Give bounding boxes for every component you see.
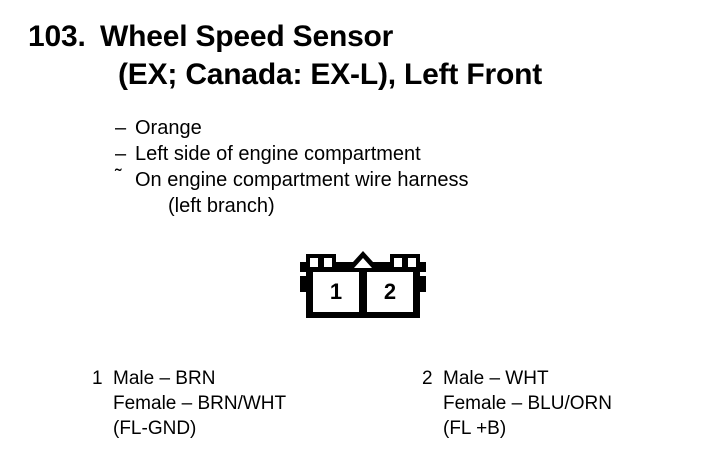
list-item: ˜ On engine compartment wire harness: [115, 167, 675, 193]
legend-pin-number: 1: [92, 366, 113, 391]
list-item: – Left side of engine compartment: [115, 141, 675, 167]
legend-column-1: 1 Male – BRN Female – BRN/WHT (FL-GND): [92, 366, 286, 441]
list-item-sublabel: (left branch): [115, 193, 675, 219]
legend-line: (FL-GND): [113, 416, 286, 441]
title-text-line-1: Wheel Speed Sensor: [100, 18, 393, 56]
title-line-1: 103. Wheel Speed Sensor: [28, 18, 688, 56]
legend-line: (FL +B): [443, 416, 612, 441]
legend-line: Male – BRN: [113, 366, 286, 391]
connector-diagram: 1 2: [292, 248, 434, 332]
list-item-label: Orange: [135, 115, 202, 141]
item-number: 103.: [28, 18, 100, 56]
legend-pin-details: Male – BRN Female – BRN/WHT (FL-GND): [113, 366, 286, 441]
connector-svg: 1 2: [292, 248, 434, 332]
page-title: 103. Wheel Speed Sensor (EX; Canada: EX-…: [28, 18, 688, 94]
legend-line: Male – WHT: [443, 366, 612, 391]
legend-line: Female – BRN/WHT: [113, 391, 286, 416]
cavity-label-2: 2: [384, 279, 396, 304]
pin-legend: 1 Male – BRN Female – BRN/WHT (FL-GND) 2…: [0, 366, 704, 456]
dash-icon: –: [115, 115, 135, 141]
list-item-label: On engine compartment wire harness: [135, 167, 469, 193]
list-item: – Orange: [115, 115, 675, 141]
legend-pin-number: 2: [422, 366, 443, 391]
list-item-label: Left side of engine compartment: [135, 141, 421, 167]
legend-pin-details: Male – WHT Female – BLU/ORN (FL +B): [443, 366, 612, 441]
tilde-icon: ˜: [115, 164, 135, 190]
detail-list: – Orange – Left side of engine compartme…: [115, 115, 675, 219]
legend-column-2: 2 Male – WHT Female – BLU/ORN (FL +B): [422, 366, 612, 441]
legend-line: Female – BLU/ORN: [443, 391, 612, 416]
cavity-label-1: 1: [330, 279, 342, 304]
title-line-2: (EX; Canada: EX-L), Left Front: [28, 56, 688, 94]
